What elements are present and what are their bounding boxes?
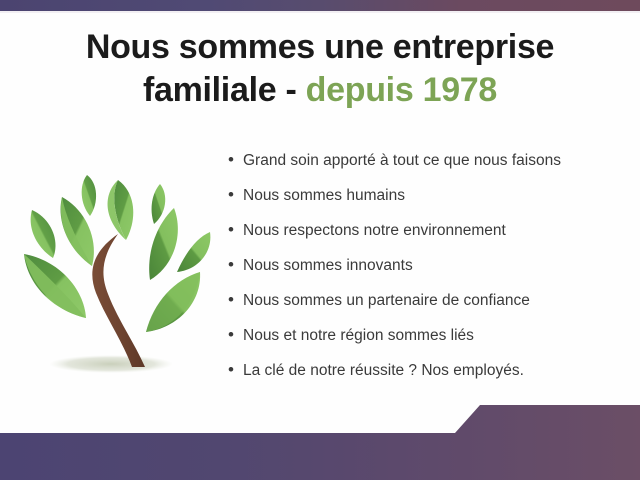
- bullet-marker-icon: •: [228, 253, 243, 277]
- tree-leaf-mid-far-left: [31, 210, 56, 258]
- tree-shadow: [49, 355, 173, 373]
- top-accent-hairline: [0, 11, 640, 13]
- bullet-marker-icon: •: [228, 323, 243, 347]
- slide-title-dash: -: [285, 71, 296, 109]
- tree-leaf-top-right-small: [152, 184, 166, 224]
- bullet-marker-icon: •: [228, 288, 243, 312]
- list-item-label: Nous respectons notre environnement: [243, 219, 628, 243]
- footer-shape: [0, 405, 640, 480]
- benefits-list: • Grand soin apporté à tout ce que nous …: [228, 148, 628, 393]
- list-item-label: Nous et notre région sommes liés: [243, 324, 628, 348]
- bullet-marker-icon: •: [228, 183, 243, 207]
- list-item: • Nous sommes innovants: [228, 253, 628, 288]
- list-item: • Nous sommes un partenaire de confiance: [228, 288, 628, 323]
- tree-trunk: [92, 234, 145, 367]
- slide-title-accent: depuis 1978: [306, 71, 497, 109]
- tree-leaf-top-left-small: [82, 175, 96, 216]
- tree-leaf-mid-far-right: [177, 232, 210, 272]
- bullet-marker-icon: •: [228, 218, 243, 242]
- list-item: • Nous respectons notre environnement: [228, 218, 628, 253]
- list-item: • Nous sommes humains: [228, 183, 628, 218]
- slide-canvas: Nous sommes une entreprise familiale - d…: [0, 0, 640, 480]
- tree-logo-illustration: [14, 162, 226, 380]
- list-item-label: Nous sommes un partenaire de confiance: [243, 289, 628, 313]
- top-accent-bar: [0, 0, 640, 11]
- list-item: • Nous et notre région sommes liés: [228, 323, 628, 358]
- tree-leaf-top-center: [114, 180, 133, 240]
- slide-title: Nous sommes une entreprise familiale - d…: [0, 26, 640, 112]
- list-item: • La clé de notre réussite ? Nos employé…: [228, 358, 628, 393]
- list-item-label: Grand soin apporté à tout ce que nous fa…: [243, 149, 628, 173]
- tree-leaf-lower-left-light: [24, 254, 86, 318]
- footer-band: TABOR tabor-automobiles.fr: [0, 398, 640, 480]
- list-item-label: La clé de notre réussite ? Nos employés.: [243, 359, 628, 383]
- list-item: • Grand soin apporté à tout ce que nous …: [228, 148, 628, 183]
- list-item-label: Nous sommes humains: [243, 184, 628, 208]
- slide-title-line-1: Nous sommes une entreprise: [86, 28, 554, 66]
- bullet-marker-icon: •: [228, 148, 243, 172]
- slide-title-line-2: familiale - depuis 1978: [0, 69, 640, 112]
- bullet-marker-icon: •: [228, 358, 243, 382]
- slide-title-line-2-prefix: familiale: [143, 71, 276, 109]
- list-item-label: Nous sommes innovants: [243, 254, 628, 278]
